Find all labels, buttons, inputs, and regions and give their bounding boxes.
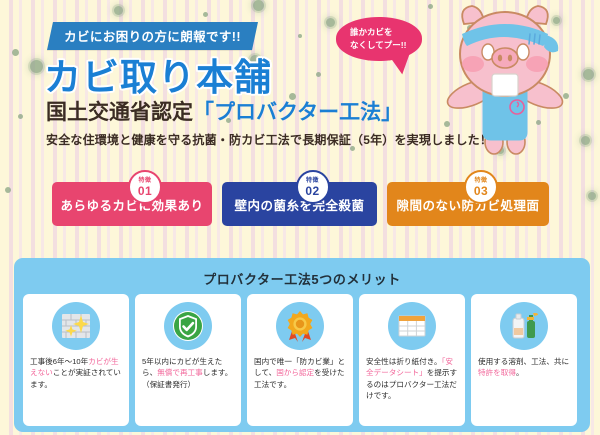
merit-card[interactable]: 工事後6年～10年カビが生えないことが実証されています。	[23, 294, 129, 426]
feature-box-2[interactable]: 特徴 02 壁内の菌糸を完全殺菌	[222, 182, 377, 226]
speech-bubble-line2: なくしてプー!!	[350, 39, 422, 52]
subtitle-certification: 国土交通省認定	[46, 101, 193, 124]
feature-badge-1: 特徴 01	[128, 170, 162, 204]
merit-text-part: 工事後6年～10年	[30, 357, 88, 366]
feature-badge-label-3: 特徴	[474, 178, 487, 184]
subtitle: 国土交通省認定「プロバクター工法」	[46, 96, 402, 126]
merit-card-text: 使用する溶剤、工法、共に特許を取得。	[478, 356, 570, 379]
page-title: カビ取り本舗	[44, 47, 272, 101]
speech-bubble: 誰かカビを なくしてプー!!	[336, 17, 422, 61]
merit-card[interactable]: 使用する溶剤、工法、共に特許を取得。	[471, 294, 577, 426]
merit-card-text: 工事後6年～10年カビが生えないことが実証されています。	[30, 356, 122, 390]
subtitle-method-name: 「プロバクター工法」	[193, 101, 402, 124]
merits-title: プロバクター工法5つのメリット	[14, 258, 590, 288]
data-sheet-table-icon	[388, 302, 436, 350]
feature-badge-number-2: 02	[305, 185, 319, 197]
merit-card[interactable]: 安全性は折り紙付き。「安全データシート」を提示するのはプロバクター工法だけです。	[359, 294, 465, 426]
feature-box-1[interactable]: 特徴 01 あらゆるカビに効果あり	[52, 182, 212, 226]
merit-card[interactable]: 国内で唯一「防カビ業」として、国から認定を受けた工法です。	[247, 294, 353, 426]
merit-card-list: 工事後6年～10年カビが生えないことが実証されています。 5年以内にカビが生えた…	[23, 294, 581, 426]
merit-text-part: 。	[516, 368, 524, 377]
green-shield-check-icon	[164, 302, 212, 350]
spray-bottle-detergent-icon	[500, 302, 548, 350]
feature-badge-label-2: 特徴	[306, 178, 319, 184]
merit-text-highlight: 無償で再工事	[157, 368, 203, 377]
merit-card-text: 5年以内にカビが生えたら、無償で再工事します。（保証書発行）	[142, 356, 234, 390]
feature-badge-2: 特徴 02	[296, 170, 330, 204]
merits-panel: プロバクター工法5つのメリット	[14, 258, 590, 432]
feature-boxes: 特徴 01 あらゆるカビに効果あり 特徴 02 壁内の菌糸を完全殺菌 特徴 03…	[0, 170, 600, 232]
pig-mascot-icon	[420, 2, 590, 162]
merit-card[interactable]: 5年以内にカビが生えたら、無償で再工事します。（保証書発行）	[135, 294, 241, 426]
announcement-ribbon-text: カビにお困りの方に朗報です!!	[64, 26, 241, 45]
feature-badge-number-1: 01	[138, 185, 152, 197]
merit-card-text: 安全性は折り紙付き。「安全データシート」を提示するのはプロバクター工法だけです。	[366, 356, 458, 402]
announcement-ribbon: カビにお困りの方に朗報です!!	[47, 22, 258, 50]
page-background: カビにお困りの方に朗報です!! カビ取り本舗 国土交通省認定「プロバクター工法」…	[0, 0, 600, 435]
feature-box-3[interactable]: 特徴 03 隙間のない防カビ処理面	[387, 182, 549, 226]
brick-wall-sparkle-icon	[52, 302, 100, 350]
feature-badge-number-3: 03	[474, 185, 488, 197]
feature-badge-label-1: 特徴	[138, 178, 151, 184]
merit-text-part: 使用する溶剤、工法、共に	[478, 357, 569, 366]
gold-medal-ribbon-icon	[276, 302, 324, 350]
merit-card-text: 国内で唯一「防カビ業」として、国から認定を受けた工法です。	[254, 356, 346, 390]
merit-text-highlight: 特許を取得	[478, 368, 516, 377]
speech-bubble-line1: 誰かカビを	[350, 26, 422, 39]
merit-text-part: 安全性は折り紙付き。	[366, 357, 442, 366]
feature-badge-3: 特徴 03	[464, 170, 498, 204]
merit-text-highlight: 国から認定	[276, 368, 314, 377]
